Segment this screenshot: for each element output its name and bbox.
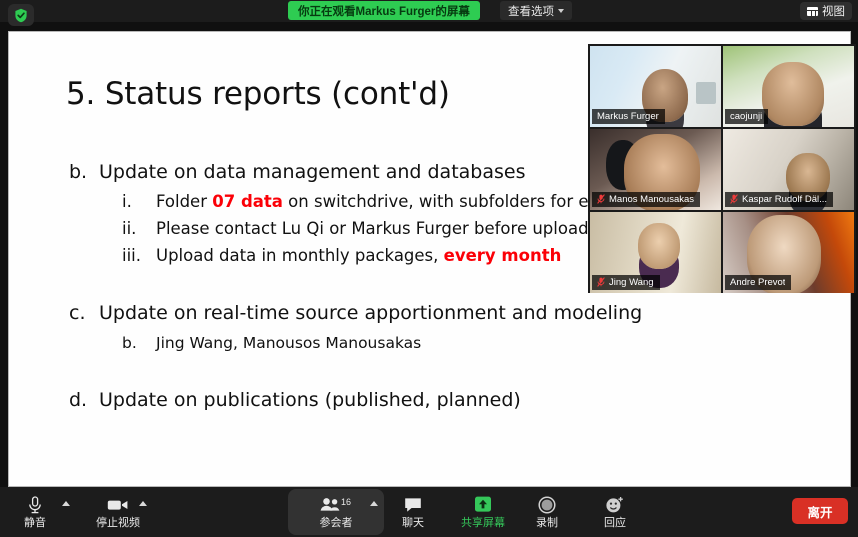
participant-name-badge: caojunji xyxy=(725,109,768,125)
slide-bullet-c-sub: b.Jing Wang, Manousos Manousakas xyxy=(122,334,421,352)
subbullet-pre: Please contact Lu Qi or Markus Furger be… xyxy=(156,219,589,238)
bullet-text: Update on data management and databases xyxy=(99,161,525,183)
video-tile-kaspar-rudolf[interactable]: Kaspar Rudolf Däl... xyxy=(723,129,854,210)
share-screen-button[interactable]: 共享屏幕 xyxy=(455,490,511,534)
slide-bullet-c: c.Update on real-time source apportionme… xyxy=(69,302,642,324)
mic-muted-icon xyxy=(730,194,738,204)
meeting-toolbar: 静音 停止视频 16 参会者 聊天 共享屏幕 xyxy=(0,487,858,537)
stop-video-label: 停止视频 xyxy=(96,518,140,529)
mute-label: 静音 xyxy=(24,518,46,529)
subbullet-post: on switchdrive, with subfolders for ea xyxy=(283,192,599,211)
view-button-label: 视图 xyxy=(822,3,845,19)
view-options-label: 查看选项 xyxy=(508,3,554,19)
bullet-text: Update on real-time source apportionment… xyxy=(99,302,642,324)
chat-bubble-icon xyxy=(404,495,422,515)
leave-label: 离开 xyxy=(807,502,832,521)
participant-name-badge: Jing Wang xyxy=(592,275,660,291)
participant-name: Jing Wang xyxy=(609,277,654,288)
subbullet-highlight: every month xyxy=(444,246,562,265)
participant-name: caojunji xyxy=(730,111,762,122)
reactions-button[interactable]: 回应 xyxy=(598,490,632,534)
screen-share-notice-text: 你正在观看Markus Furger的屏幕 xyxy=(298,3,470,19)
bullet-text: Update on publications (published, plann… xyxy=(99,389,521,411)
record-label: 录制 xyxy=(536,518,558,529)
slide-title: 5. Status reports (cont'd) xyxy=(66,76,450,112)
video-row: Jing Wang Andre Prevot xyxy=(590,212,854,293)
chat-label: 聊天 xyxy=(402,518,424,529)
microphone-icon xyxy=(28,495,42,515)
people-icon: 16 xyxy=(319,495,353,515)
leave-meeting-button[interactable]: 离开 xyxy=(792,498,848,524)
slide-subbullet-ii: ii.Please contact Lu Qi or Markus Furger… xyxy=(122,219,589,238)
participants-options-caret-icon[interactable] xyxy=(370,501,378,506)
svg-text:16: 16 xyxy=(341,497,351,507)
bullet-marker: c. xyxy=(69,302,99,324)
video-tile-manos-manousakas[interactable]: Manos Manousakas xyxy=(590,129,721,210)
video-tile-jing-wang[interactable]: Jing Wang xyxy=(590,212,721,293)
chevron-down-icon xyxy=(558,9,564,13)
share-screen-label: 共享屏幕 xyxy=(461,518,505,529)
participant-name-badge: Andre Prevot xyxy=(725,275,791,291)
share-screen-icon xyxy=(472,495,494,515)
subbullet-highlight: 07 data xyxy=(212,192,283,211)
screen-share-notice: 你正在观看Markus Furger的屏幕 xyxy=(288,1,480,20)
chat-button[interactable]: 聊天 xyxy=(396,490,430,534)
video-row: Markus Furger caojunji xyxy=(590,46,854,127)
slide-subbullet-iii: iii.Upload data in monthly packages, eve… xyxy=(122,246,561,265)
subbullet-pre: Upload data in monthly packages, xyxy=(156,246,444,265)
record-button[interactable]: 录制 xyxy=(530,490,564,534)
mute-options-caret-icon[interactable] xyxy=(62,501,70,506)
grid-view-icon xyxy=(807,7,818,16)
participants-button[interactable]: 16 参会者 xyxy=(296,490,376,534)
video-tile-caojunji[interactable]: caojunji xyxy=(723,46,854,127)
participant-name: Andre Prevot xyxy=(730,277,785,288)
mute-button[interactable]: 静音 xyxy=(18,490,52,534)
view-button[interactable]: 视图 xyxy=(800,2,852,20)
participant-name-badge: Manos Manousakas xyxy=(592,192,700,208)
subbullet-marker: i. xyxy=(122,192,156,211)
participants-label: 参会者 xyxy=(320,518,353,529)
subbullet-text: Jing Wang, Manousos Manousakas xyxy=(156,334,421,352)
subbullet-pre: Folder xyxy=(156,192,212,211)
subbullet-marker: b. xyxy=(122,334,156,352)
video-tile-markus-furger[interactable]: Markus Furger xyxy=(590,46,721,127)
record-circle-icon xyxy=(538,495,556,515)
participant-name: Manos Manousakas xyxy=(609,194,694,205)
video-options-caret-icon[interactable] xyxy=(139,501,147,506)
top-bar: 你正在观看Markus Furger的屏幕 查看选项 视图 xyxy=(0,0,858,22)
participant-name-badge: Kaspar Rudolf Däl... xyxy=(725,192,833,208)
shield-check-icon[interactable] xyxy=(8,4,34,26)
zoom-meeting-window: 你正在观看Markus Furger的屏幕 查看选项 视图 5. Status … xyxy=(0,0,858,537)
slide-bullet-b: b.Update on data management and database… xyxy=(69,161,525,183)
participant-name-badge: Markus Furger xyxy=(592,109,665,125)
mic-muted-icon xyxy=(597,194,605,204)
camera-icon xyxy=(107,495,129,515)
mic-muted-icon xyxy=(597,277,605,287)
bullet-marker: d. xyxy=(69,389,99,411)
participant-name: Markus Furger xyxy=(597,111,659,122)
video-tile-andre-prevot[interactable]: Andre Prevot xyxy=(723,212,854,293)
reactions-label: 回应 xyxy=(604,518,626,529)
video-row: Manos Manousakas Kaspar Rudolf Däl... xyxy=(590,129,854,210)
emoji-reaction-icon xyxy=(605,495,625,515)
subbullet-marker: iii. xyxy=(122,246,156,265)
slide-bullet-d: d.Update on publications (published, pla… xyxy=(69,389,521,411)
participant-video-panel[interactable]: Markus Furger caojunji Manos Manousakas xyxy=(588,44,856,293)
slide-subbullet-i: i.Folder 07 data on switchdrive, with su… xyxy=(122,192,599,211)
view-options-dropdown[interactable]: 查看选项 xyxy=(500,1,572,20)
bullet-marker: b. xyxy=(69,161,99,183)
subbullet-marker: ii. xyxy=(122,219,156,238)
participant-name: Kaspar Rudolf Däl... xyxy=(742,194,827,205)
stop-video-button[interactable]: 停止视频 xyxy=(90,490,146,534)
